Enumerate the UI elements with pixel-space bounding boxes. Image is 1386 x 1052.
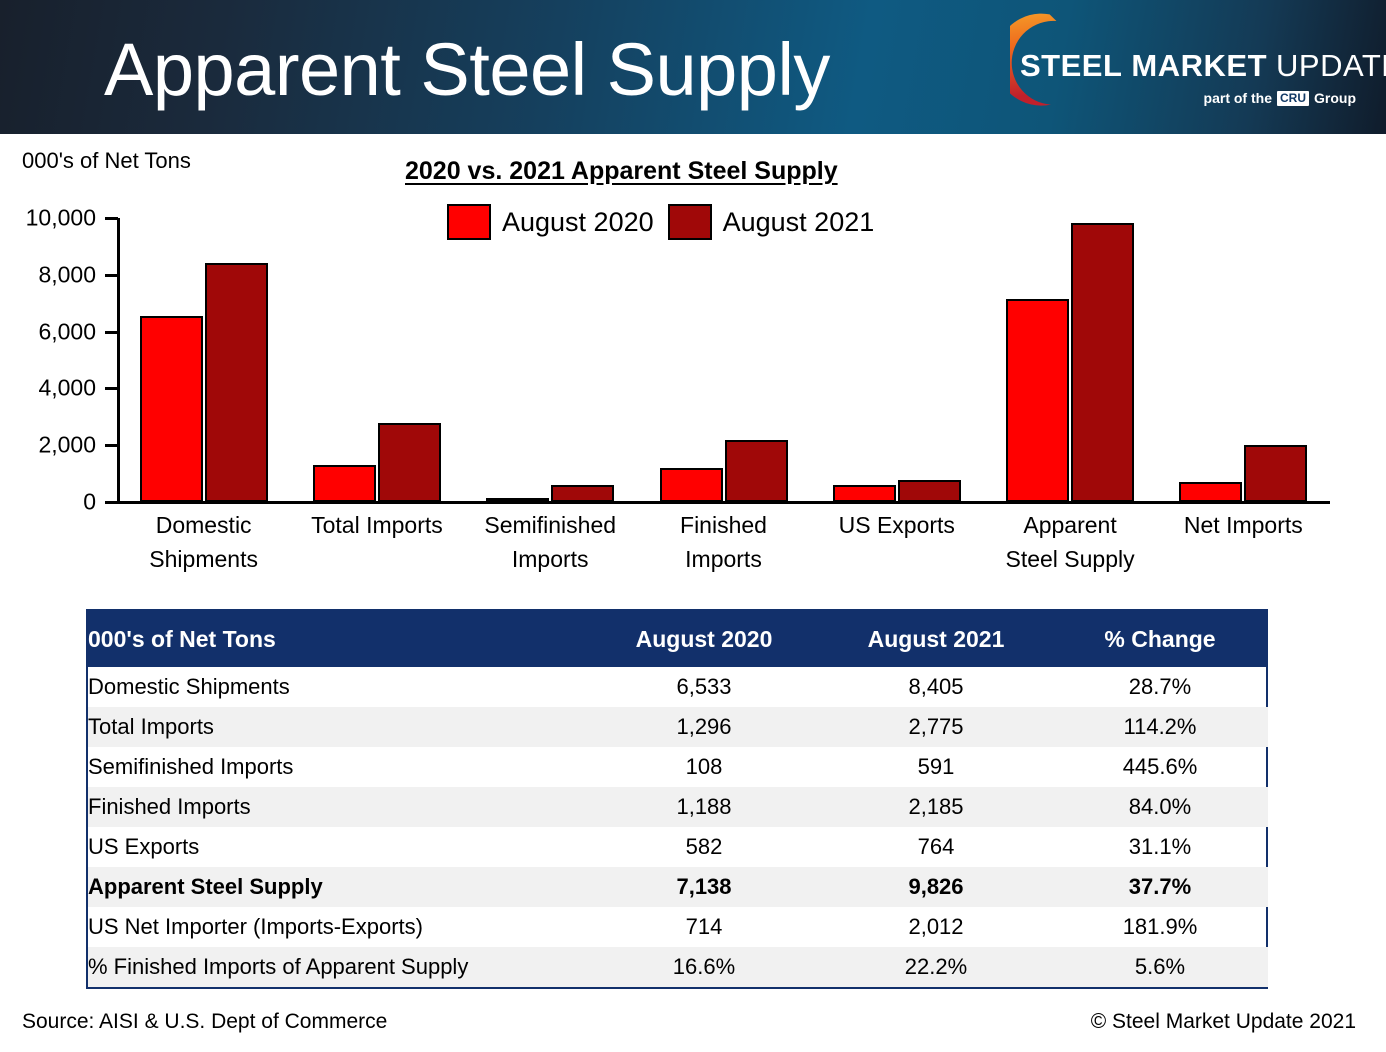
table-cell-pct-change: 181.9% [1052,907,1268,947]
table-cell-pct-change: 28.7% [1052,667,1268,707]
table-cell-pct-change: 31.1% [1052,827,1268,867]
steel-market-update-logo: STEELMARKETUPDATE part of the CRU Group [1008,8,1358,120]
table-cell-august-2021: 764 [820,827,1052,867]
table-cell-label: US Net Importer (Imports-Exports) [88,907,588,947]
table-cell-august-2020: 1,188 [588,787,820,827]
y-axis-unit-label: 000's of Net Tons [22,148,191,174]
logo-word-update: UPDATE [1276,48,1386,83]
bar-august-2021 [205,263,268,502]
bar-august-2020 [1006,299,1069,502]
y-axis-tick-label: 4,000 [38,375,96,402]
x-axis-category-label: FinishedImports [637,508,810,576]
y-axis-tick-labels: 02,0004,0006,0008,00010,000 [0,190,96,520]
logo-word-steel: STEEL [1020,48,1122,83]
bar-august-2020 [313,465,376,502]
bar-august-2021 [378,423,441,502]
data-table: 000's of Net Tons August 2020 August 202… [86,609,1268,989]
bar-august-2020 [1179,482,1242,502]
table-row: Finished Imports1,1882,18584.0% [88,787,1268,827]
table-cell-august-2021: 2,012 [820,907,1052,947]
table-header-august-2021: August 2021 [820,611,1052,667]
table-cell-label: Total Imports [88,707,588,747]
bar-series-container [117,218,1330,502]
table-header-pct-change: % Change [1052,611,1268,667]
table-cell-august-2021: 2,775 [820,707,1052,747]
table-cell-label: US Exports [88,827,588,867]
table-cell-august-2021: 2,185 [820,787,1052,827]
x-axis-category-label: Net Imports [1157,508,1330,542]
logo-subtitle: part of the CRU Group [1204,90,1356,106]
y-axis-tick-label: 6,000 [38,318,96,345]
chart-plot-area: 02,0004,0006,0008,00010,000 [0,190,1386,520]
table-cell-august-2020: 7,138 [588,867,820,907]
bar-august-2020 [140,316,203,502]
logo-word-market: MARKET [1131,48,1267,83]
logo-sub-prefix: part of the [1204,90,1272,106]
table-header-label: 000's of Net Tons [88,611,588,667]
y-axis-tick-label: 10,000 [26,205,96,232]
copyright-note: © Steel Market Update 2021 [1091,1010,1356,1034]
x-axis-category-label: Total Imports [290,508,463,542]
table-header-row: 000's of Net Tons August 2020 August 202… [88,611,1268,667]
table-row: Domestic Shipments6,5338,40528.7% [88,667,1268,707]
logo-wordmark: STEELMARKETUPDATE [1020,48,1360,82]
table-row: US Net Importer (Imports-Exports)7142,01… [88,907,1268,947]
table-cell-august-2021: 8,405 [820,667,1052,707]
page-title: Apparent Steel Supply [104,30,830,110]
cru-badge: CRU [1277,91,1309,106]
bar-august-2021 [1244,445,1307,502]
bar-august-2021 [551,485,614,502]
table-cell-label: Apparent Steel Supply [88,867,588,907]
table-cell-label: Domestic Shipments [88,667,588,707]
bar-august-2020 [833,485,896,502]
y-axis-tick-label: 0 [83,489,96,516]
table-cell-pct-change: 5.6% [1052,947,1268,987]
table-cell-pct-change: 84.0% [1052,787,1268,827]
table-row: % Finished Imports of Apparent Supply16.… [88,947,1268,987]
y-axis-tick-label: 2,000 [38,432,96,459]
bar-august-2021 [1071,223,1134,502]
table-cell-august-2021: 22.2% [820,947,1052,987]
bar-august-2021 [898,480,961,502]
table-cell-pct-change: 37.7% [1052,867,1268,907]
x-axis-category-labels: DomesticShipmentsTotal ImportsSemifinish… [117,508,1330,582]
x-axis-category-label: SemifinishedImports [464,508,637,576]
x-axis-category-label: DomesticShipments [117,508,290,576]
slide-root: Apparent Steel Supply STEELMARKETUPDATE … [0,0,1386,1052]
logo-sub-suffix: Group [1314,90,1356,106]
table-cell-august-2020: 714 [588,907,820,947]
chart-title: 2020 vs. 2021 Apparent Steel Supply [405,157,838,186]
table-cell-august-2020: 1,296 [588,707,820,747]
table-cell-pct-change: 114.2% [1052,707,1268,747]
bar-august-2020 [660,468,723,502]
table-cell-august-2021: 591 [820,747,1052,787]
table-cell-august-2021: 9,826 [820,867,1052,907]
table-cell-august-2020: 6,533 [588,667,820,707]
bar-august-2020 [486,498,549,502]
table-header-august-2020: August 2020 [588,611,820,667]
y-axis-tick-label: 8,000 [38,261,96,288]
table-cell-august-2020: 16.6% [588,947,820,987]
table-cell-label: % Finished Imports of Apparent Supply [88,947,588,987]
table-cell-pct-change: 445.6% [1052,747,1268,787]
table-cell-august-2020: 582 [588,827,820,867]
x-axis-category-label: ApparentSteel Supply [983,508,1156,576]
table-cell-label: Semifinished Imports [88,747,588,787]
table-row: Total Imports1,2962,775114.2% [88,707,1268,747]
bar-august-2021 [725,440,788,502]
table-cell-label: Finished Imports [88,787,588,827]
source-note: Source: AISI & U.S. Dept of Commerce [22,1010,387,1034]
x-axis-category-label: US Exports [810,508,983,542]
table-body: Domestic Shipments6,5338,40528.7%Total I… [88,667,1268,987]
table-row: US Exports58276431.1% [88,827,1268,867]
table-row: Apparent Steel Supply7,1389,82637.7% [88,867,1268,907]
table-row: Semifinished Imports108591445.6% [88,747,1268,787]
header-banner: Apparent Steel Supply STEELMARKETUPDATE … [0,0,1386,134]
table-cell-august-2020: 108 [588,747,820,787]
